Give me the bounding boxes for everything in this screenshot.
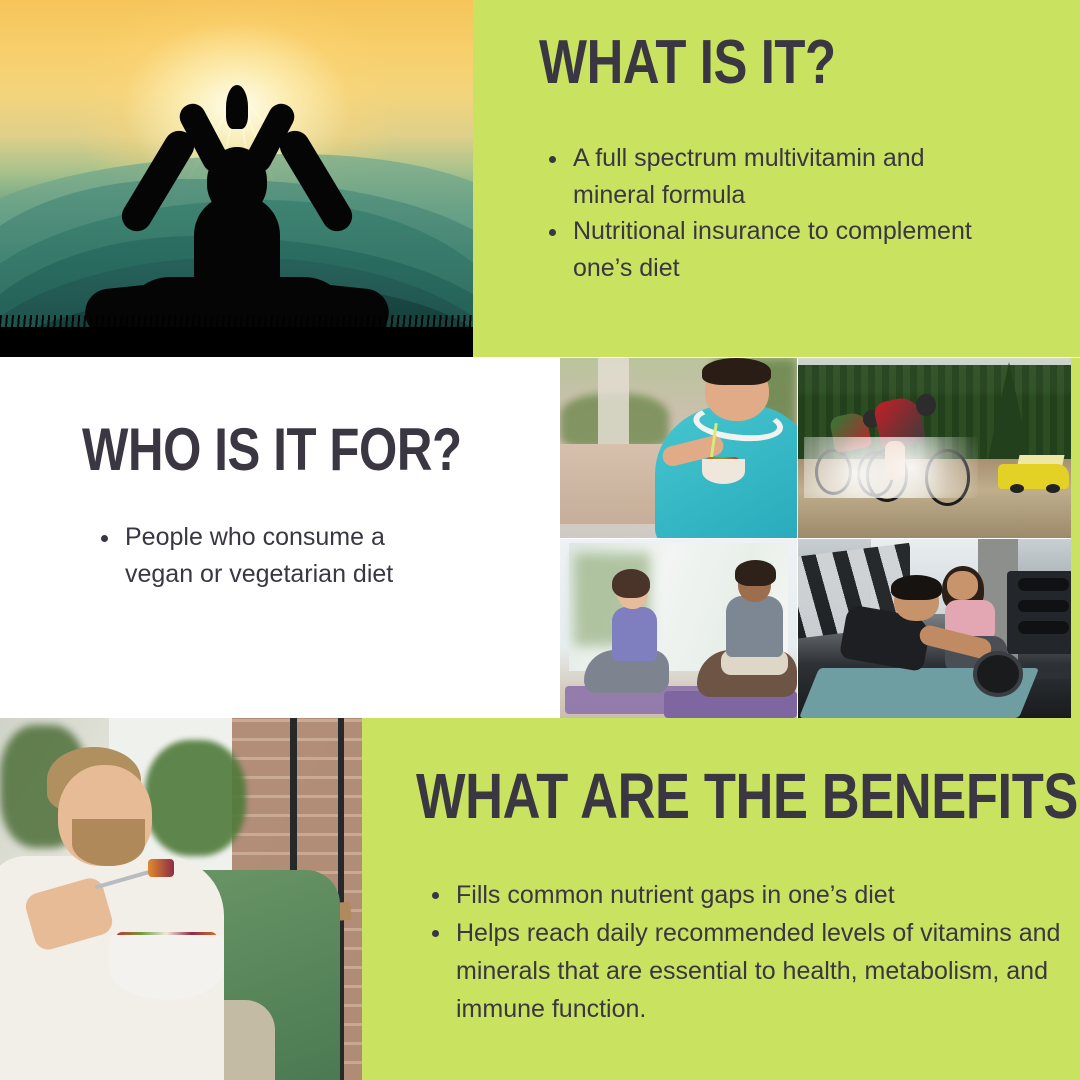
who-is-it-for-bullet-list: People who consume a vegan or vegetarian… (95, 519, 455, 592)
what-is-it-heading: WHAT IS IT? (539, 32, 836, 94)
grid-right-green-strip (1071, 358, 1080, 718)
list-item: Helps reach daily recommended levels of … (426, 914, 1066, 1028)
what-is-it-bullet-list: A full spectrum multivitamin and mineral… (543, 140, 973, 286)
sunset-yoga-photo (0, 0, 473, 357)
yoga-silhouette (87, 85, 387, 335)
arm-shape (274, 125, 357, 236)
man-eating-salad-outdoors-photo (560, 358, 797, 538)
what-is-it-panel: WHAT IS IT? A full spectrum multivitamin… (473, 0, 1080, 357)
mountain-bikers-photo (798, 358, 1080, 538)
list-item: People who consume a vegan or vegetarian… (95, 519, 455, 592)
list-item: Fills common nutrient gaps in one’s diet (426, 876, 1066, 914)
man-eating-salad-indoors-photo (0, 718, 362, 1080)
gym-ab-roller-photo (798, 539, 1080, 718)
lifestyle-photo-grid (560, 358, 1080, 718)
prayer-hands-shape (226, 85, 248, 129)
benefits-heading: WHAT ARE THE BENEFITS? (416, 764, 1080, 828)
who-is-it-for-panel: WHO IS IT FOR? People who consume a vega… (0, 357, 560, 718)
who-is-it-for-heading: WHO IS IT FOR? (82, 420, 462, 480)
meditating-couple-photo (560, 539, 797, 718)
list-item: Nutritional insurance to complement one’… (543, 213, 973, 286)
benefits-bullet-list: Fills common nutrient gaps in one’s diet… (426, 876, 1066, 1028)
infographic-poster: WHAT IS IT? A full spectrum multivitamin… (0, 0, 1080, 1080)
benefits-panel: WHAT ARE THE BENEFITS? Fills common nutr… (362, 718, 1080, 1080)
list-item: A full spectrum multivitamin and mineral… (543, 140, 973, 213)
ground-foreground (0, 327, 473, 357)
arm-shape (116, 125, 199, 236)
